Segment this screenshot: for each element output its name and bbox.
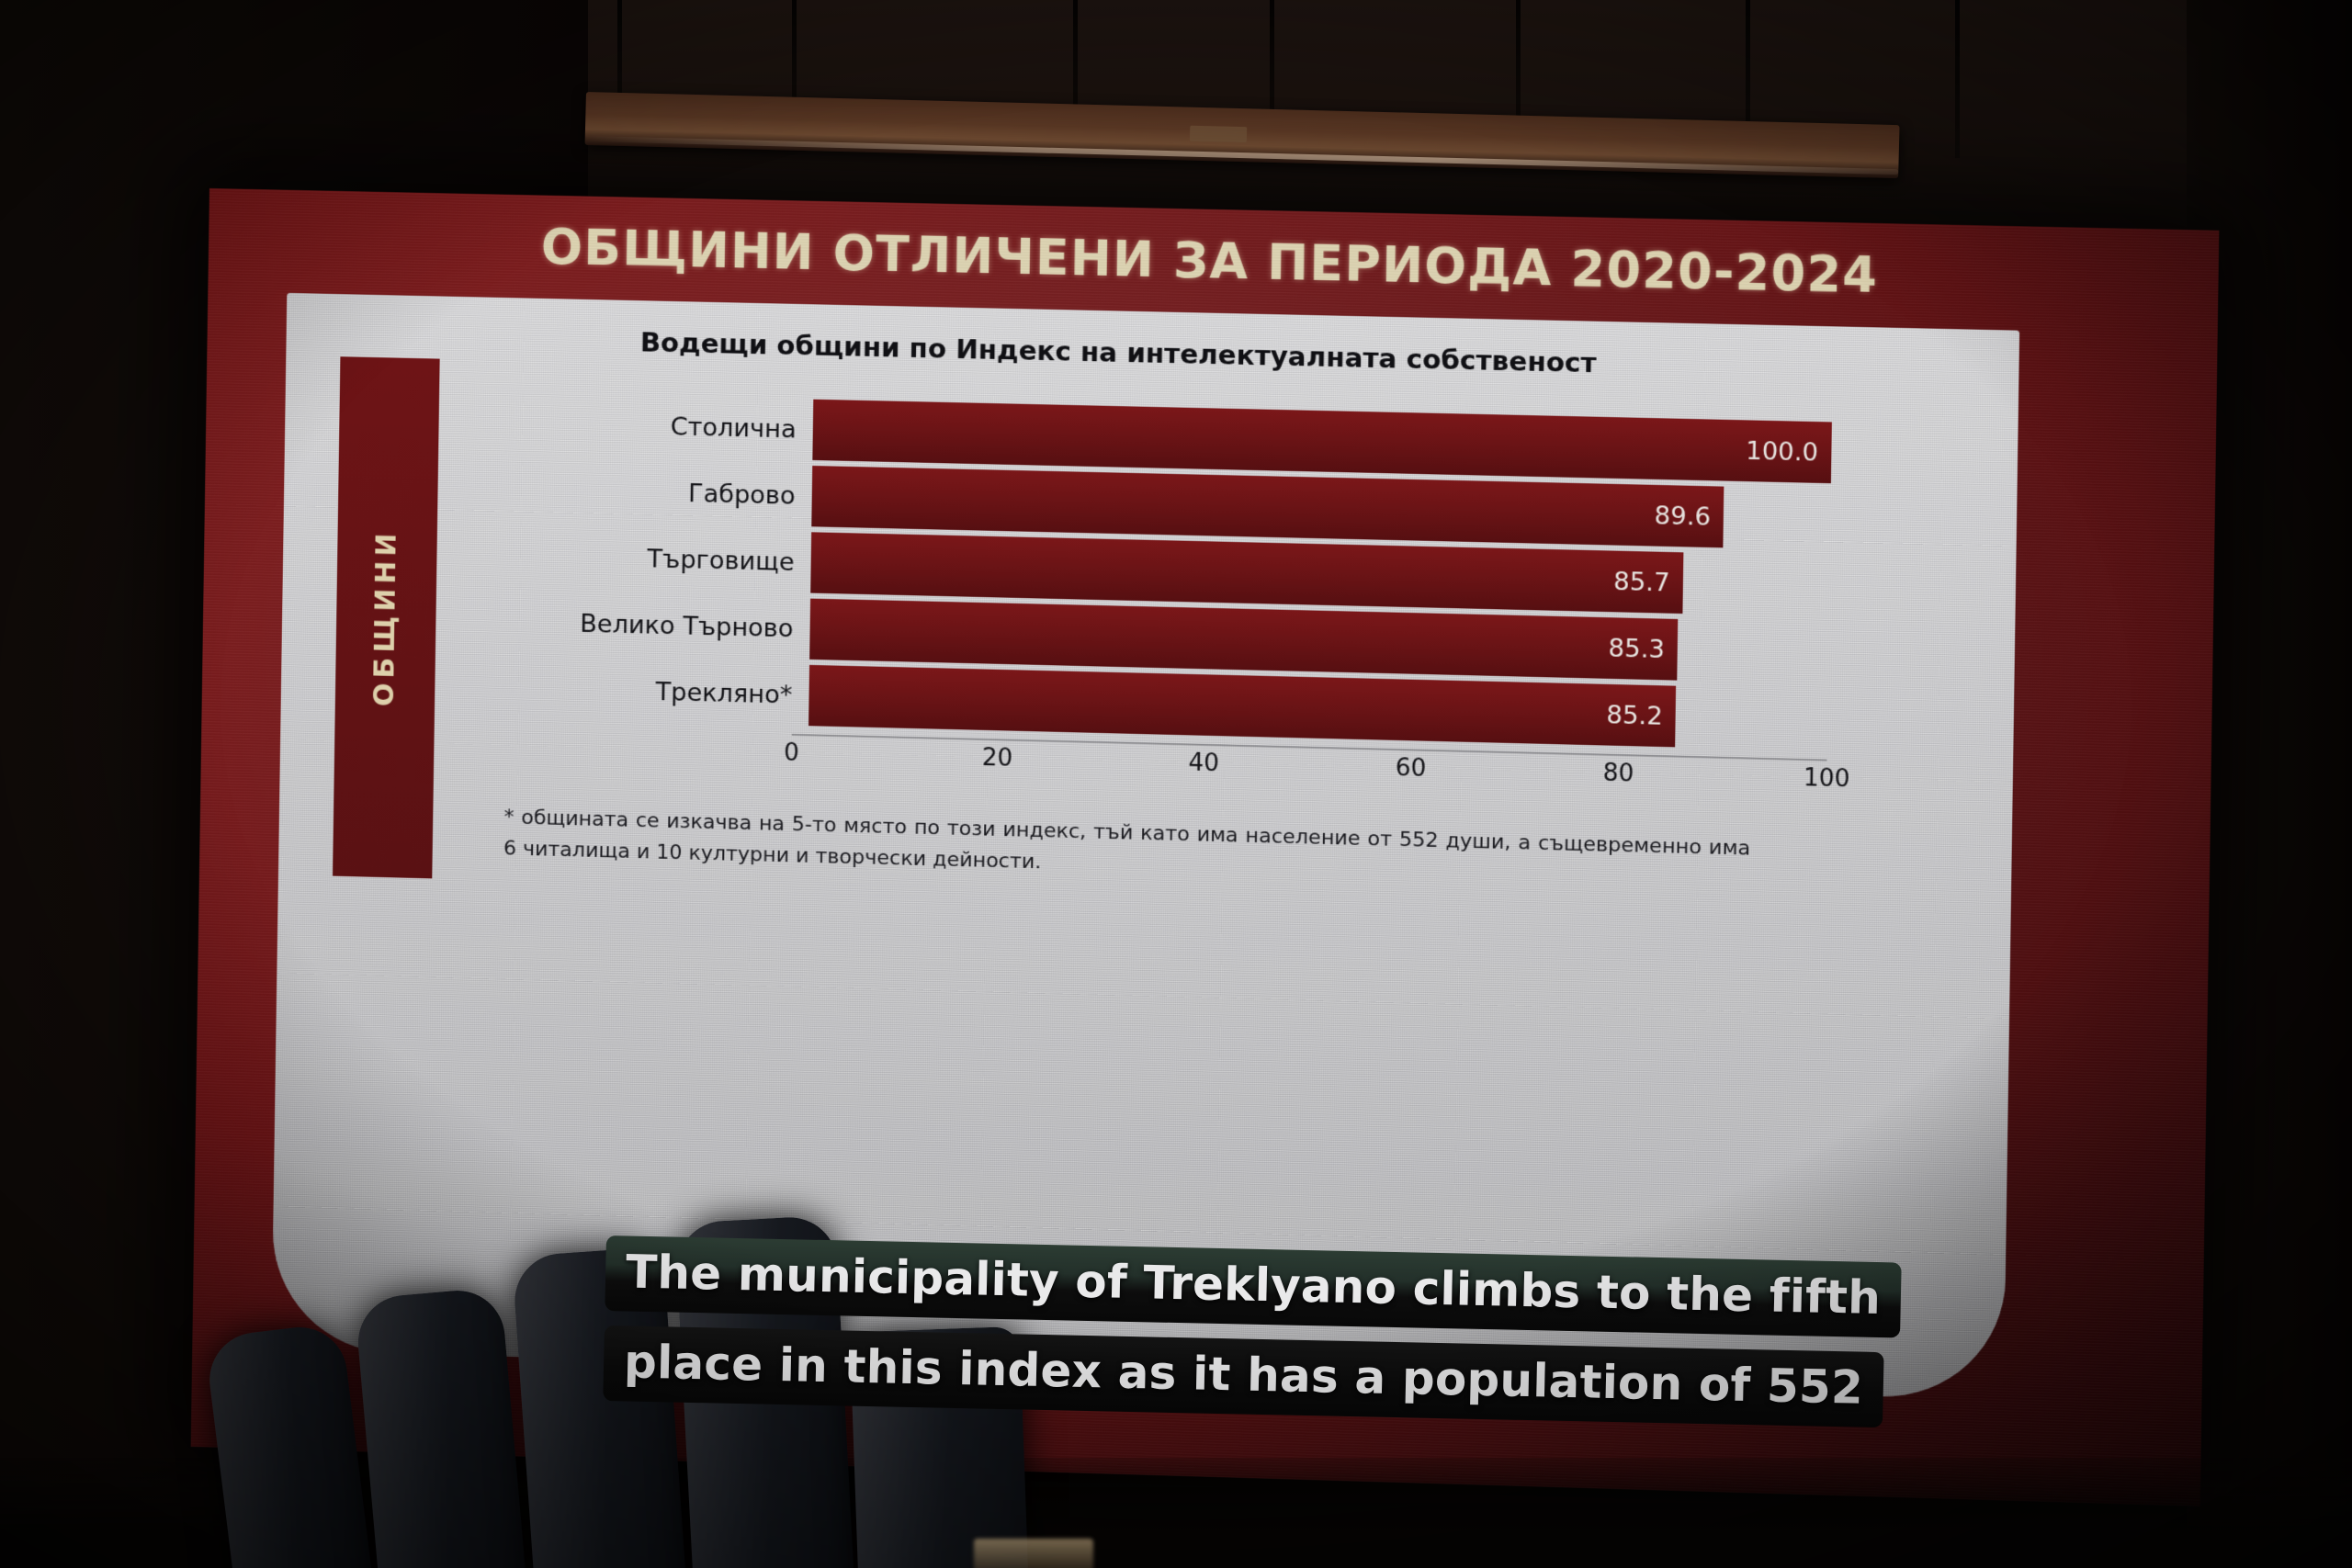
chart-category-label: Трекляно* <box>505 673 808 709</box>
axis-group-label-tab: ОБЩИНИ <box>333 356 440 878</box>
chart-bar-value: 89.6 <box>1654 502 1724 532</box>
chart-category-label: Търговище <box>508 541 811 577</box>
axis-group-label-text: ОБЩИНИ <box>368 528 403 707</box>
x-axis-tick-label: 0 <box>784 739 799 768</box>
roller-nameplate <box>1190 125 1247 142</box>
bar-chart-plot: Столична 100.0 Габрово 89.6 <box>505 389 1832 753</box>
x-axis-tick-label: 40 <box>1188 749 1219 777</box>
conference-room-scene: ОБЩИНИ ОТЛИЧЕНИ ЗА ПЕРИОДА 2020-2024 ОБЩ… <box>0 0 2352 1568</box>
x-axis-tick-label: 60 <box>1395 754 1426 783</box>
ceiling-cable <box>1955 0 1960 158</box>
x-axis-tick-label: 100 <box>1804 764 1850 794</box>
chart-category-label: Велико Търново <box>506 607 809 643</box>
chart-bar-value: 100.0 <box>1746 436 1832 467</box>
chart-bar-value: 85.2 <box>1606 701 1676 731</box>
x-axis-tick-label: 80 <box>1602 760 1634 788</box>
chart-bar-value: 85.7 <box>1613 567 1683 597</box>
caption-overlay: The municipality of Treklyano climbs to … <box>603 1235 1938 1428</box>
slide-title: ОБЩИНИ ОТЛИЧЕНИ ЗА ПЕРИОДА 2020-2024 <box>209 212 2219 311</box>
chart-bar-value: 85.3 <box>1608 634 1678 664</box>
x-axis-tick-label: 20 <box>982 744 1013 773</box>
chart-category-label: Габрово <box>509 475 812 511</box>
podium-light <box>974 1539 1093 1568</box>
chair <box>354 1287 527 1568</box>
chart-category-label: Столична <box>510 409 813 445</box>
